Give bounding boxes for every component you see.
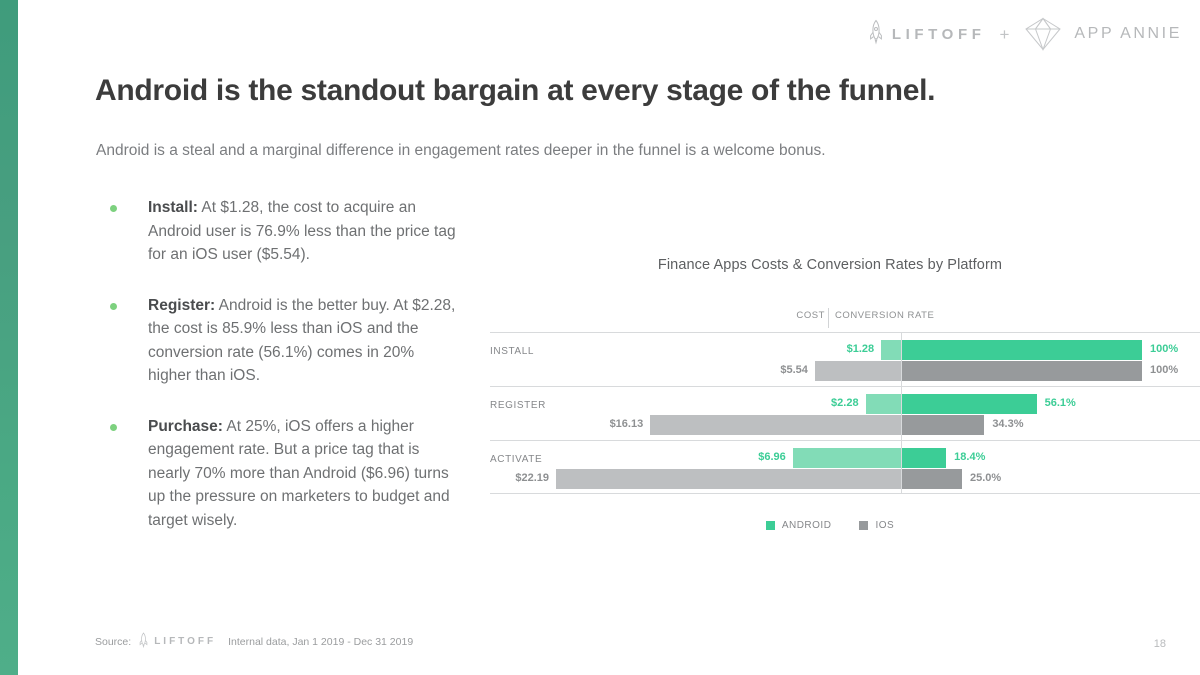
page-subtitle: Android is a steal and a marginal differ… bbox=[96, 141, 1056, 162]
bar-group-android: $2.2856.1% bbox=[490, 394, 1200, 414]
liftoff-logo: LIFTOFF bbox=[869, 19, 986, 49]
chart-panel: Finance Apps Costs & Conversion Rates by… bbox=[460, 248, 1200, 560]
legend-item-ios: IOS bbox=[859, 520, 894, 531]
bar-group-android: $1.28100% bbox=[490, 340, 1200, 360]
header-divider bbox=[828, 308, 829, 328]
footer-liftoff-wordmark: LIFTOFF bbox=[154, 636, 216, 647]
source-label: Source: bbox=[95, 636, 131, 648]
cost-bar-ios bbox=[650, 415, 901, 435]
chart-row: REGISTER$2.2856.1%$16.1334.3% bbox=[490, 386, 1200, 440]
conversion-value-label: 100% bbox=[1150, 343, 1178, 355]
bullet-lead: Install: bbox=[148, 199, 198, 216]
bullet-dot-icon bbox=[110, 205, 117, 212]
chart-rows: INSTALL$1.28100%$5.54100%REGISTER$2.2856… bbox=[490, 332, 1200, 494]
chart-title: Finance Apps Costs & Conversion Rates by… bbox=[460, 248, 1200, 273]
page-number: 18 bbox=[1154, 638, 1166, 650]
bullet-text: Purchase: At 25%, iOS offers a higher en… bbox=[148, 415, 460, 533]
bar-group-ios: $16.1334.3% bbox=[490, 415, 1200, 435]
column-header-cost: COST bbox=[796, 310, 825, 321]
chart-column-headers: COST CONVERSION RATE bbox=[490, 308, 1200, 330]
list-item: Install: At $1.28, the cost to acquire a… bbox=[110, 196, 460, 267]
left-accent-bar bbox=[0, 0, 18, 675]
conversion-bar-ios bbox=[902, 415, 984, 435]
cost-value-label: $1.28 bbox=[847, 343, 875, 355]
bar-group-ios: $5.54100% bbox=[490, 361, 1200, 381]
footer-liftoff-logo: LIFTOFF bbox=[139, 632, 216, 651]
brand-lockup: LIFTOFF + APP ANNIE bbox=[869, 14, 1182, 54]
conversion-bar-android bbox=[902, 394, 1037, 414]
app-annie-logo: APP ANNIE bbox=[1023, 16, 1182, 52]
cost-value-label: $6.96 bbox=[758, 451, 786, 463]
chart-plot-area: COST CONVERSION RATE INSTALL$1.28100%$5.… bbox=[490, 308, 1200, 498]
bullet-lead: Purchase: bbox=[148, 418, 223, 435]
legend-label: ANDROID bbox=[782, 520, 832, 531]
cost-value-label: $22.19 bbox=[515, 472, 549, 484]
chart-row: INSTALL$1.28100%$5.54100% bbox=[490, 332, 1200, 386]
legend-swatch-icon bbox=[766, 521, 775, 530]
liftoff-wordmark: LIFTOFF bbox=[892, 27, 986, 42]
cost-bar-android bbox=[881, 340, 901, 360]
cost-bar-android bbox=[793, 448, 901, 468]
list-item: Purchase: At 25%, iOS offers a higher en… bbox=[110, 415, 460, 533]
bar-group-ios: $22.1925.0% bbox=[490, 469, 1200, 489]
conversion-bar-android bbox=[902, 448, 946, 468]
cost-value-label: $2.28 bbox=[831, 397, 859, 409]
app-annie-wordmark: APP ANNIE bbox=[1074, 26, 1182, 42]
conversion-value-label: 100% bbox=[1150, 364, 1178, 376]
cost-bar-ios bbox=[556, 469, 901, 489]
chart-baseline bbox=[490, 493, 1200, 494]
cost-value-label: $16.13 bbox=[610, 418, 644, 430]
chart-legend: ANDROIDIOS bbox=[460, 520, 1200, 531]
conversion-value-label: 25.0% bbox=[970, 472, 1001, 484]
legend-swatch-icon bbox=[859, 521, 868, 530]
source-note: Internal data, Jan 1 2019 - Dec 31 2019 bbox=[228, 636, 413, 648]
conversion-bar-android bbox=[902, 340, 1142, 360]
conversion-bar-ios bbox=[902, 361, 1142, 381]
bullet-lead: Register: bbox=[148, 297, 215, 314]
cost-value-label: $5.54 bbox=[780, 364, 808, 376]
column-header-conversion: CONVERSION RATE bbox=[835, 310, 934, 321]
bullet-dot-icon bbox=[110, 303, 117, 310]
conversion-bar-ios bbox=[902, 469, 962, 489]
chart-row: ACTIVATE$6.9618.4%$22.1925.0% bbox=[490, 440, 1200, 494]
conversion-value-label: 34.3% bbox=[992, 418, 1023, 430]
rocket-icon bbox=[869, 19, 883, 49]
page-title: Android is the standout bargain at every… bbox=[95, 74, 1095, 109]
cost-bar-ios bbox=[815, 361, 901, 381]
conversion-value-label: 18.4% bbox=[954, 451, 985, 463]
source-footer: Source: LIFTOFF Internal data, Jan 1 201… bbox=[95, 632, 413, 651]
bullet-dot-icon bbox=[110, 424, 117, 431]
legend-item-android: ANDROID bbox=[766, 520, 832, 531]
rocket-icon bbox=[139, 632, 148, 651]
legend-label: IOS bbox=[875, 520, 894, 531]
plus-separator: + bbox=[999, 26, 1009, 43]
bullet-text: Register: Android is the better buy. At … bbox=[148, 294, 460, 388]
slide: LIFTOFF + APP ANNIE Android is the stand… bbox=[0, 0, 1200, 675]
bar-group-android: $6.9618.4% bbox=[490, 448, 1200, 468]
cost-bar-android bbox=[866, 394, 901, 414]
bullet-list: Install: At $1.28, the cost to acquire a… bbox=[110, 196, 460, 560]
diamond-icon bbox=[1023, 16, 1063, 52]
conversion-value-label: 56.1% bbox=[1045, 397, 1076, 409]
bullet-text: Install: At $1.28, the cost to acquire a… bbox=[148, 196, 460, 267]
list-item: Register: Android is the better buy. At … bbox=[110, 294, 460, 388]
